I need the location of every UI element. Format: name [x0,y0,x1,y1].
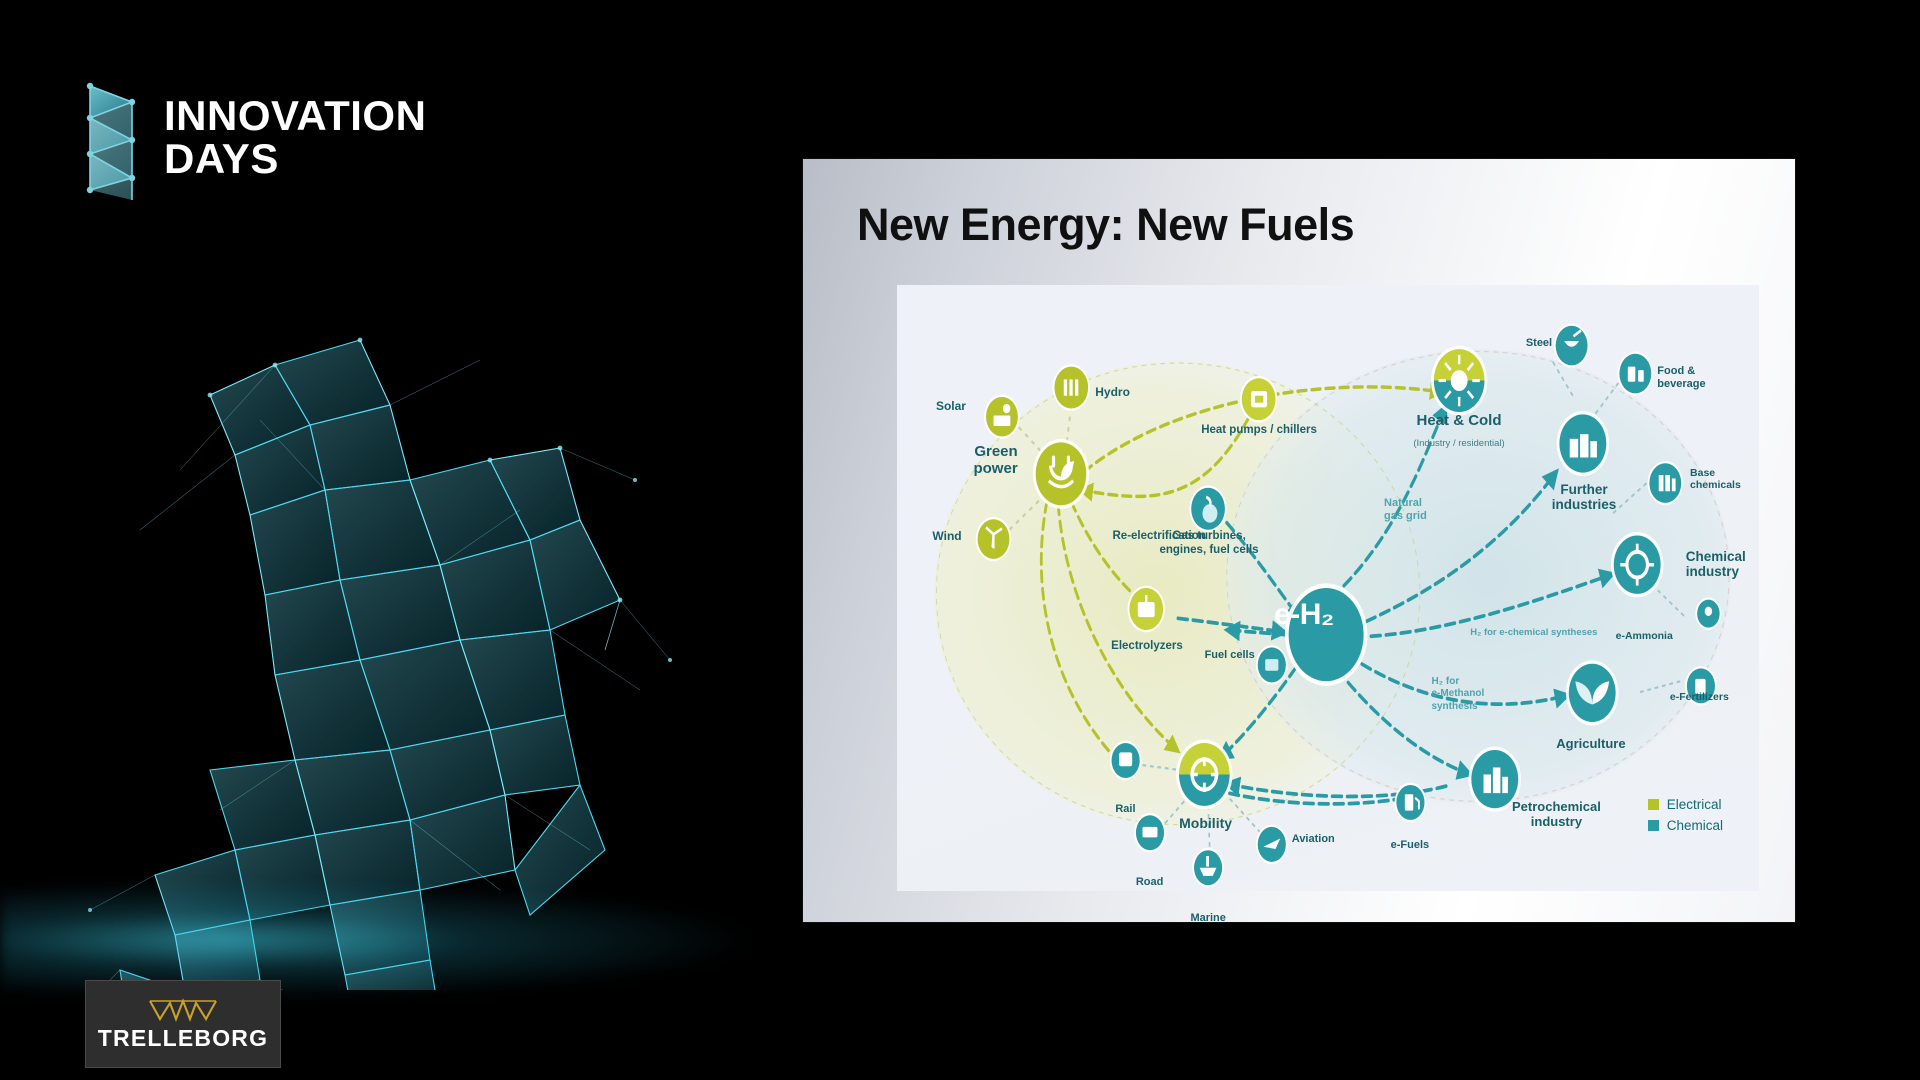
node-chemical-industry [1611,532,1663,597]
node-mobility [1176,740,1232,810]
node-e-ammonia [1695,597,1721,630]
trelleborg-wordmark: TRELLEBORG [98,1025,268,1052]
node-wind [976,517,1012,561]
node-agriculture [1566,660,1618,725]
brand-line-1: INNOVATION [164,94,426,137]
legend-swatch-electrical [1648,799,1659,810]
node-road [1134,813,1166,853]
diagram-legend: Electrical Chemical [1648,797,1723,839]
node-base-chemicals [1648,461,1684,505]
legend-item-chemical: Chemical [1648,818,1723,833]
legend-swatch-chemical [1648,820,1659,831]
trelleborg-logo: TRELLEBORG [85,980,281,1068]
legend-item-electrical: Electrical [1648,797,1723,812]
node-heat-pumps [1240,376,1277,423]
trelleborg-crown-icon [146,997,220,1023]
node-aviation [1256,825,1288,865]
innovation-days-mark-icon [82,78,142,208]
innovation-days-brand: INNOVATION DAYS [82,78,426,208]
label-marine: Marine [1190,912,1225,924]
node-electrolyzers [1127,586,1164,633]
node-marine [1192,848,1224,888]
node-solar [984,395,1020,439]
brand-line-2: DAYS [164,137,426,180]
node-steel [1554,323,1590,367]
page-title: New Energy: New Fuels [857,199,1354,251]
node-gas-turbines [1189,485,1226,532]
node-green-power [1033,439,1089,509]
presentation-screen: INNOVATION DAYS [0,0,1920,1080]
node-fuel-cells [1256,645,1288,685]
node-e-fuels [1395,783,1427,823]
node-further-industries [1557,411,1609,476]
node-e-h2-hub [1285,583,1367,686]
node-e-fertilizers [1685,666,1717,706]
node-heat-and-cold [1431,346,1487,416]
legend-label-chemical: Chemical [1667,818,1723,833]
node-hydro [1053,364,1090,411]
node-food-beverage [1618,351,1654,395]
node-petrochemical [1469,746,1521,811]
slide-panel: New Energy: New Fuels [803,159,1795,922]
energy-flow-diagram: e-H₂ Solar Hydro Wind Green power Gas tu… [897,285,1759,891]
node-rail [1110,741,1142,781]
legend-label-electrical: Electrical [1667,797,1722,812]
